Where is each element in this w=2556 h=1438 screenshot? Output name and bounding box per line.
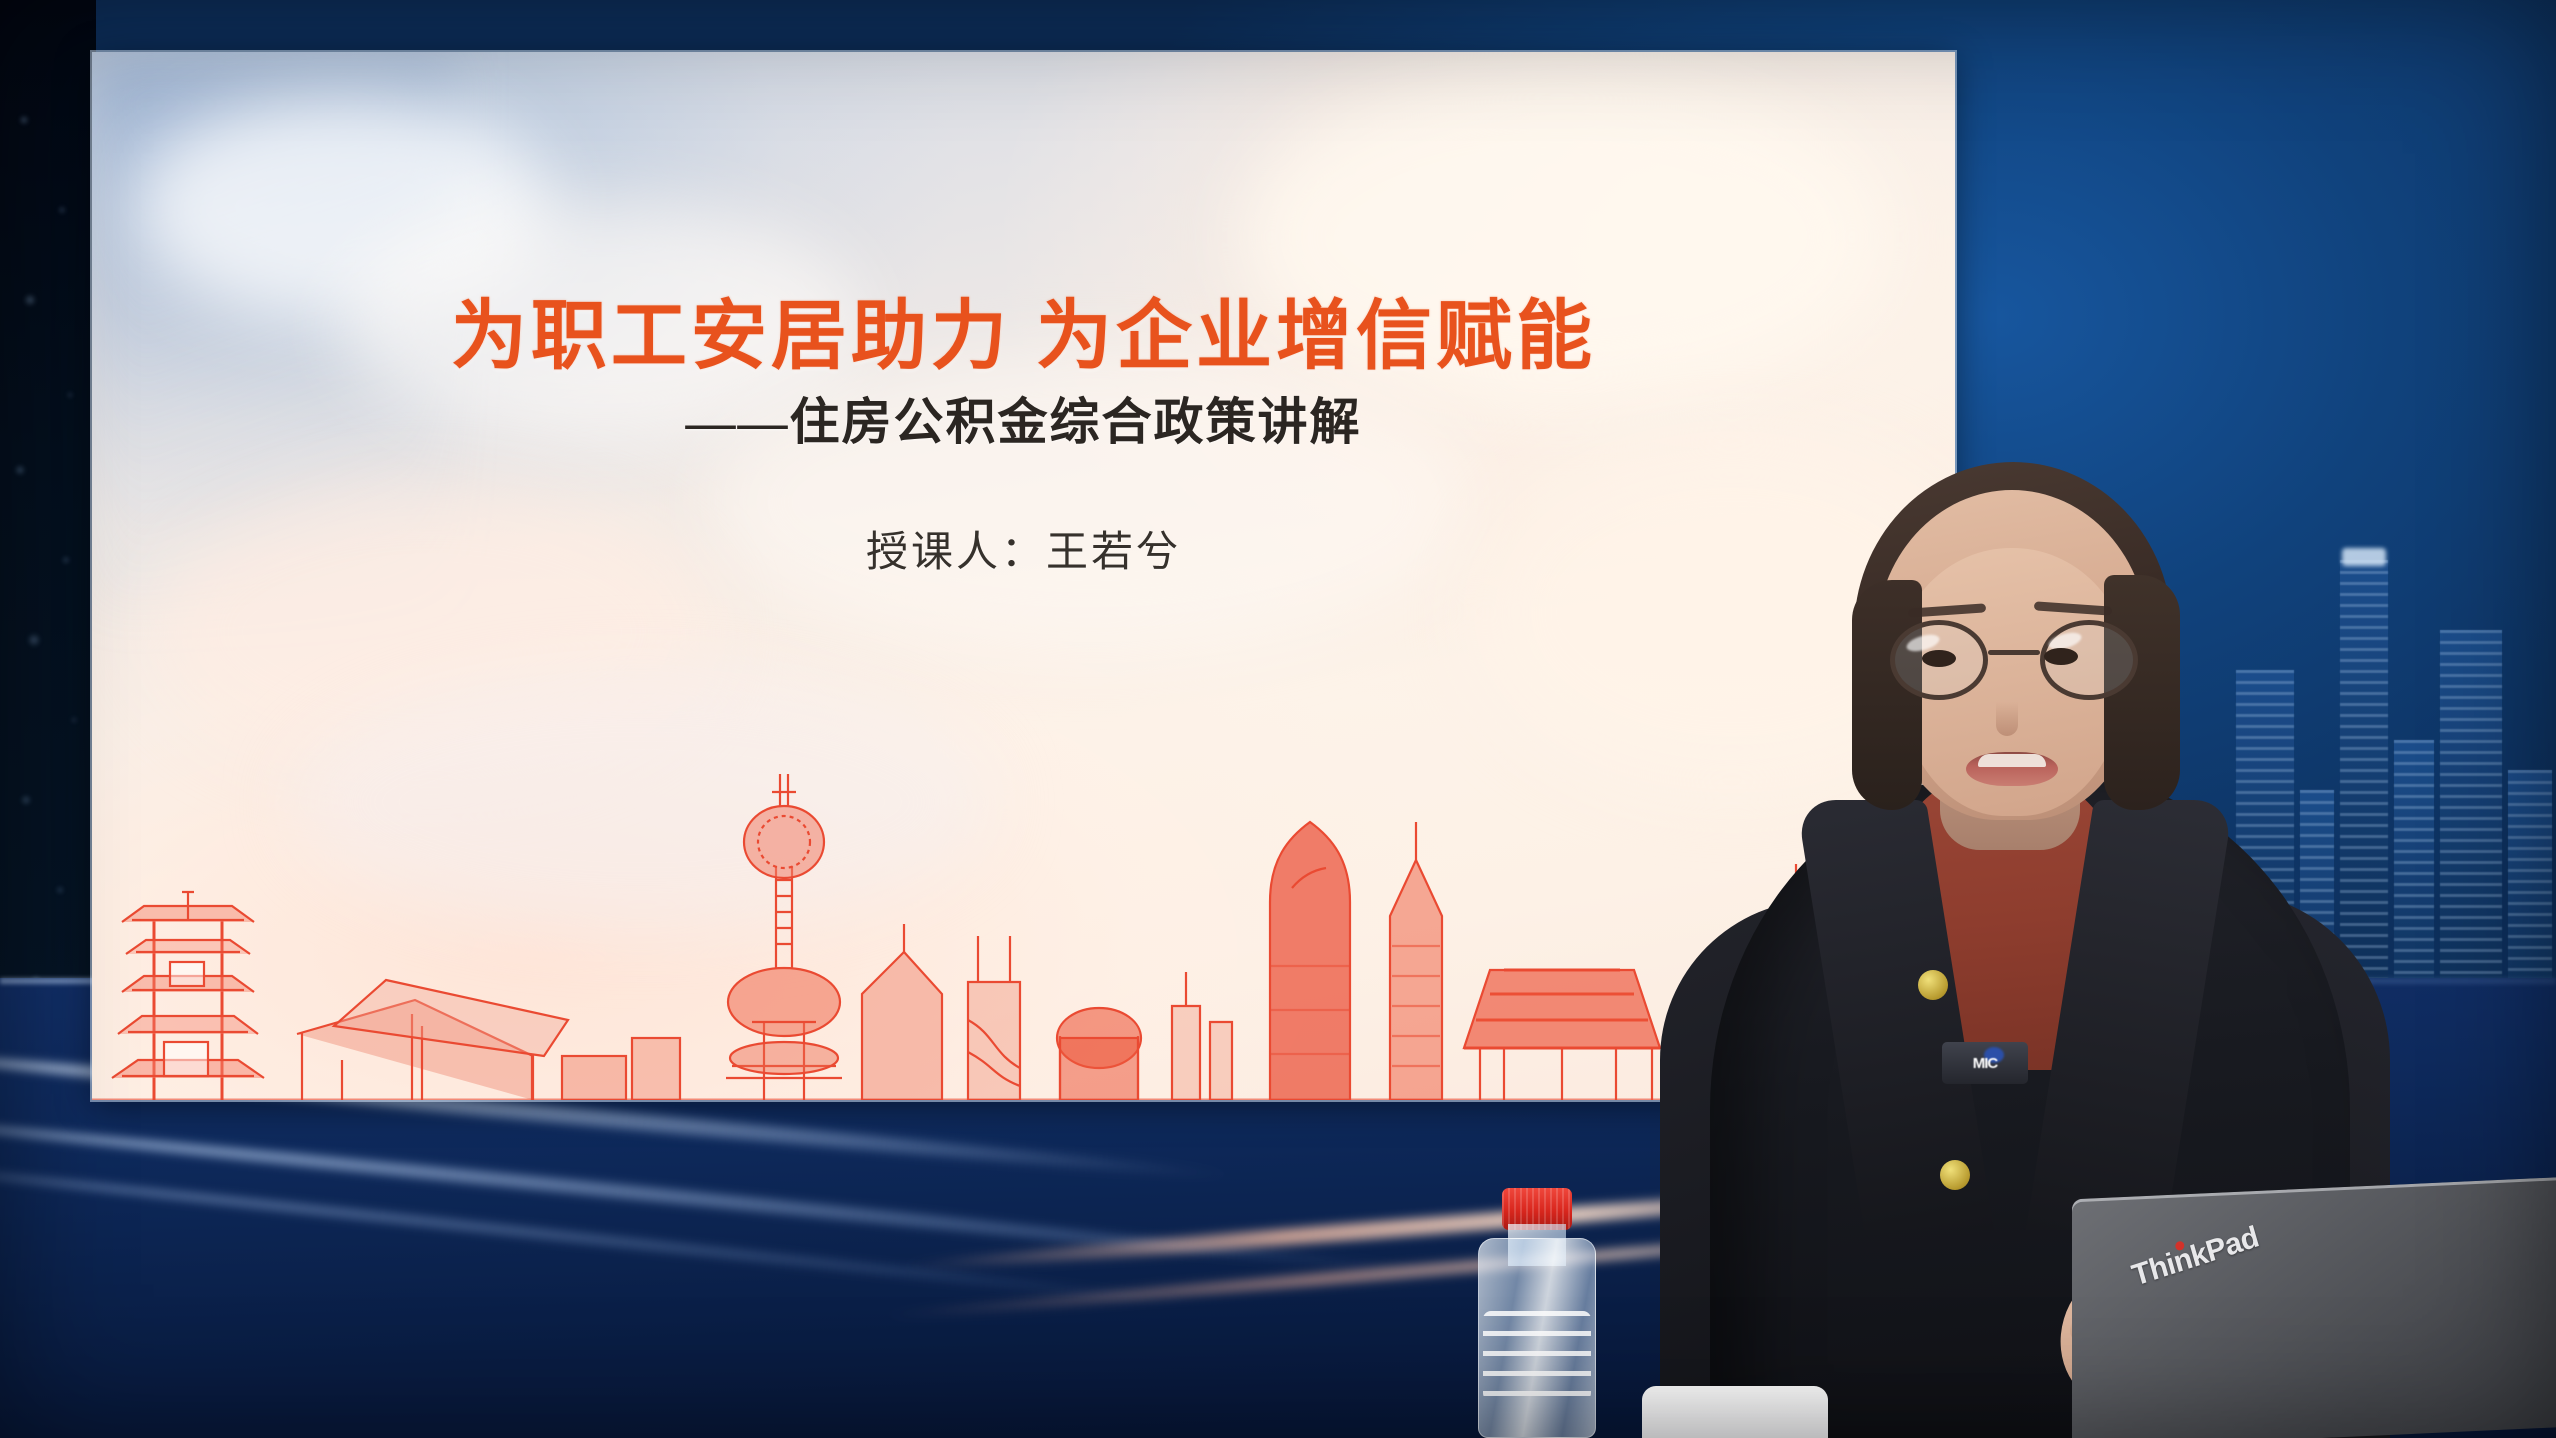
teeth xyxy=(1978,754,2046,767)
jinmao-tower-icon xyxy=(1390,822,1442,1100)
laptop[interactable]: ThinkPad xyxy=(2072,1188,2556,1438)
clip-on-mic-badge: MIC xyxy=(1942,1042,2028,1084)
laptop-lid xyxy=(2072,1177,2556,1438)
water-bottle[interactable] xyxy=(1478,1180,1596,1438)
bottle-body xyxy=(1478,1238,1596,1438)
pagoda-icon xyxy=(112,892,264,1100)
broadcast-frame: 为职工安居助力 为企业增信赋能 ——住房公积金综合政策讲解 授课人：王若兮 xyxy=(0,0,2556,1438)
shanghai-tower-icon xyxy=(1270,822,1350,1100)
gold-button xyxy=(1918,970,1948,1000)
badge-label: MIC xyxy=(1973,1055,1998,1072)
slide-subtitle: ——住房公积金综合政策讲解 xyxy=(92,382,1955,454)
eye-left xyxy=(1922,650,1956,667)
china-pavilion-icon xyxy=(1464,970,1660,1100)
oriental-pearl-tower-icon xyxy=(726,774,842,1100)
glasses-bridge xyxy=(1988,650,2040,655)
gold-button xyxy=(1940,1160,1970,1190)
slide-title: 为职工安居助力 为企业增信赋能 xyxy=(92,274,1955,384)
backdrop-left-tower xyxy=(0,0,96,1140)
nose xyxy=(1996,702,2018,736)
eye-right xyxy=(2044,648,2078,665)
white-cup[interactable] xyxy=(1642,1386,1828,1438)
